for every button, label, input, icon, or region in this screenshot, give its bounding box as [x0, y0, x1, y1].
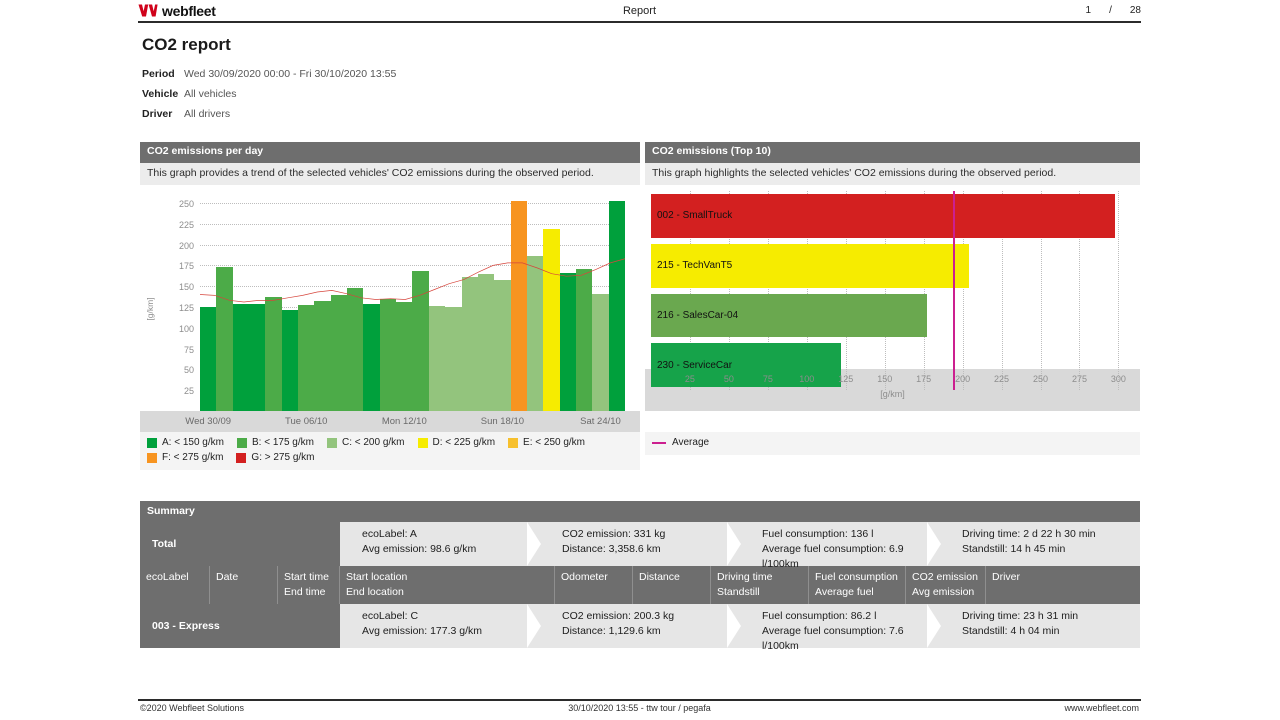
column-header: Distance [633, 566, 711, 604]
summary-row-vehicle: 003 - ExpressecoLabel: CAvg emission: 17… [140, 604, 1140, 648]
summary-cell-line2: Standstill: 14 h 45 min [962, 542, 1130, 557]
meta-key: Vehicle [142, 84, 184, 104]
report-page: webfleet Report 1 / 28 CO2 report Period… [0, 0, 1280, 720]
average-line-icon [652, 442, 666, 444]
x-axis-tick-label: 275 [1072, 374, 1087, 384]
summary-cell-line2: Average fuel consumption: 6.9 l/100km [762, 542, 930, 572]
chart-co2-top10: 002 - SmallTruck215 - TechVanT5216 - Sal… [645, 185, 1140, 432]
x-axis-tick-label: 75 [763, 374, 773, 384]
legend-label: D: < 225 g/km [433, 437, 496, 448]
x-axis-tick-label: 150 [877, 374, 892, 384]
summary-cell-line1: Fuel consumption: 86.2 l [762, 609, 930, 624]
page-total: 28 [1130, 5, 1141, 16]
x-axis-tick-label: 25 [685, 374, 695, 384]
x-axis-tick-label: 125 [838, 374, 853, 384]
summary-row-total: TotalecoLabel: AAvg emission: 98.6 g/kmC… [140, 522, 1140, 566]
legend-swatch-icon [237, 438, 247, 448]
x-axis-tick-label: 100 [799, 374, 814, 384]
summary-cell-line2: Distance: 3,358.6 km [562, 542, 730, 557]
x-axis-tick-label: Mon 12/10 [382, 416, 427, 427]
bar-label: 216 - SalesCar-04 [651, 310, 738, 321]
header-divider [138, 21, 1141, 23]
page-header: webfleet Report 1 / 28 [138, 0, 1141, 21]
y-axis-tick-label: 125 [179, 303, 194, 313]
meta-value: All drivers [184, 104, 230, 124]
column-header-line1: Driver [992, 570, 1134, 585]
column-header-line1: Driving time [717, 570, 802, 585]
summary-cell: Fuel consumption: 86.2 lAverage fuel con… [740, 604, 940, 648]
plot-area: 255075100125150175200225250 [200, 193, 625, 411]
legend-item-a: A: < 150 g/km [147, 437, 224, 448]
summary-cell: CO2 emission: 331 kgDistance: 3,358.6 km [540, 522, 740, 566]
x-axis-tick-label: Sat 24/10 [580, 416, 621, 427]
x-axis-tick-label: 300 [1111, 374, 1126, 384]
summary-cell: Driving time: 2 d 22 h 30 minStandstill:… [940, 522, 1140, 566]
legend-average: Average [645, 432, 1140, 455]
legend-ecolabels: A: < 150 g/kmB: < 175 g/kmC: < 200 g/kmD… [140, 432, 640, 470]
legend-label: F: < 275 g/km [162, 452, 223, 463]
summary-cell: ecoLabel: CAvg emission: 177.3 g/km [340, 604, 540, 648]
legend-label: B: < 175 g/km [252, 437, 314, 448]
summary-cell: ecoLabel: AAvg emission: 98.6 g/km [340, 522, 540, 566]
legend-label: G: > 275 g/km [251, 452, 314, 463]
column-header: Odometer [555, 566, 633, 604]
legend-label: A: < 150 g/km [162, 437, 224, 448]
panel-co2-top10: CO2 emissions (Top 10) This graph highli… [645, 142, 1140, 455]
summary-cell-line1: Fuel consumption: 136 l [762, 527, 930, 542]
legend-swatch-icon [147, 453, 157, 463]
summary-section: Summary TotalecoLabel: AAvg emission: 98… [140, 501, 1140, 648]
summary-row: TotalecoLabel: AAvg emission: 98.6 g/kmC… [140, 522, 1140, 566]
column-header: Start locationEnd location [340, 566, 555, 604]
y-axis-tick-label: 200 [179, 241, 194, 251]
meta-row-vehicle: Vehicle All vehicles [142, 84, 396, 104]
legend-row: A: < 150 g/kmB: < 175 g/kmC: < 200 g/kmD… [147, 437, 633, 448]
column-header-line2: Standstill [717, 585, 802, 600]
legend-row: F: < 275 g/kmG: > 275 g/km [147, 452, 633, 463]
x-axis-tick-label: 50 [724, 374, 734, 384]
summary-cell-line1: ecoLabel: C [362, 609, 530, 624]
report-meta: Period Wed 30/09/2020 00:00 - Fri 30/10/… [142, 64, 396, 124]
bar: 216 - SalesCar-04 [651, 294, 927, 338]
page-title: CO2 report [142, 35, 231, 55]
column-header-line1: Distance [639, 570, 704, 585]
legend-label: C: < 200 g/km [342, 437, 405, 448]
x-axis-tick-label: 175 [916, 374, 931, 384]
trend-polyline [200, 259, 625, 302]
summary-cell-line1: ecoLabel: A [362, 527, 530, 542]
summary-column-headers: ecoLabelDateStart timeEnd timeStart loca… [140, 566, 1140, 604]
column-header: ecoLabel [140, 566, 210, 604]
panel-description: This graph provides a trend of the selec… [140, 163, 640, 186]
legend-item-b: B: < 175 g/km [237, 437, 314, 448]
summary-cell-line2: Standstill: 4 h 04 min [962, 624, 1130, 639]
page-footer: ©2020 Webfleet Solutions 30/10/2020 13:5… [138, 703, 1141, 719]
y-axis-tick-label: 75 [184, 345, 194, 355]
y-axis-tick-label: 175 [179, 261, 194, 271]
panel-co2-per-day: CO2 emissions per day This graph provide… [140, 142, 640, 470]
summary-cell-line1: CO2 emission: 200.3 kg [562, 609, 730, 624]
summary-cell-line2: Avg emission: 177.3 g/km [362, 624, 530, 639]
average-marker-line [953, 191, 955, 390]
plot-area: 002 - SmallTruck215 - TechVanT5216 - Sal… [651, 191, 1134, 390]
column-header-line1: CO2 emission [912, 570, 979, 585]
page-current: 1 [1086, 5, 1092, 16]
x-axis-tick-label: Wed 30/09 [185, 416, 231, 427]
summary-cell-line2: Avg emission: 98.6 g/km [362, 542, 530, 557]
meta-value: Wed 30/09/2020 00:00 - Fri 30/10/2020 13… [184, 64, 396, 84]
column-header-line2: Avg emission [912, 585, 979, 600]
legend-swatch-icon [508, 438, 518, 448]
summary-cell-line1: Driving time: 23 h 31 min [962, 609, 1130, 624]
average-trend-line [200, 193, 625, 411]
x-axis-ticks: [g/km] 255075100125150175200225250275300 [651, 369, 1134, 411]
legend-swatch-icon [327, 438, 337, 448]
footer-divider [138, 699, 1141, 701]
summary-cell: Driving time: 23 h 31 minStandstill: 4 h… [940, 604, 1140, 648]
meta-key: Driver [142, 104, 184, 124]
legend-item-c: C: < 200 g/km [327, 437, 405, 448]
panel-heading: CO2 emissions per day [140, 142, 640, 163]
meta-key: Period [142, 64, 184, 84]
summary-cell-line2: Distance: 1,129.6 km [562, 624, 730, 639]
summary-cell: CO2 emission: 200.3 kgDistance: 1,129.6 … [540, 604, 740, 648]
y-axis-tick-label: 150 [179, 282, 194, 292]
bar-label: 215 - TechVanT5 [651, 260, 732, 271]
x-axis-tick-label: 200 [955, 374, 970, 384]
column-header-line2: End time [284, 585, 333, 600]
y-axis-tick-label: 100 [179, 324, 194, 334]
page-separator: / [1109, 5, 1112, 16]
column-header-line1: Fuel consumption [815, 570, 899, 585]
legend-label: E: < 250 g/km [523, 437, 585, 448]
legend-swatch-icon [418, 438, 428, 448]
x-axis-title: [g/km] [651, 389, 1134, 399]
bar-label: 002 - SmallTruck [651, 210, 732, 221]
footer-website[interactable]: www.webfleet.com [1064, 703, 1139, 713]
legend-row: Average [652, 437, 1133, 448]
legend-label: Average [672, 437, 709, 448]
y-axis-tick-label: 225 [179, 220, 194, 230]
chart-co2-per-day: [g/km] 255075100125150175200225250 Wed 3… [140, 185, 640, 432]
x-axis-labels: Wed 30/09Tue 06/10Mon 12/10Sun 18/10Sat … [200, 411, 625, 432]
summary-cell-line1: CO2 emission: 331 kg [562, 527, 730, 542]
column-header: Driver [986, 566, 1140, 604]
column-header-line1: Odometer [561, 570, 626, 585]
bar-row: 215 - TechVanT5 [651, 244, 1134, 288]
bar-row: 216 - SalesCar-04 [651, 294, 1134, 338]
column-header-line2: End location [346, 585, 548, 600]
bar: 002 - SmallTruck [651, 194, 1115, 238]
legend-item-d: D: < 225 g/km [418, 437, 496, 448]
column-header-line1: Date [216, 570, 271, 585]
column-header-line1: Start time [284, 570, 333, 585]
y-axis-tick-label: 250 [179, 199, 194, 209]
column-header-line2: Average fuel [815, 585, 899, 600]
summary-heading: Summary [140, 501, 1140, 522]
column-header-line1: Start location [346, 570, 548, 585]
column-header: Date [210, 566, 278, 604]
summary-cell: Fuel consumption: 136 lAverage fuel cons… [740, 522, 940, 566]
legend-item-f: F: < 275 g/km [147, 452, 223, 463]
legend-swatch-icon [236, 453, 246, 463]
x-axis-tick-label: Tue 06/10 [285, 416, 327, 427]
column-header-line1: ecoLabel [146, 570, 203, 585]
summary-row-name: 003 - Express [140, 604, 340, 648]
page-indicator: 1 / 28 [1086, 5, 1141, 16]
panel-heading: CO2 emissions (Top 10) [645, 142, 1140, 163]
column-header: Start timeEnd time [278, 566, 340, 604]
x-axis-tick-label: Sun 18/10 [481, 416, 524, 427]
bar: 215 - TechVanT5 [651, 244, 969, 288]
summary-cell-line1: Driving time: 2 d 22 h 30 min [962, 527, 1130, 542]
x-axis-tick-label: 225 [994, 374, 1009, 384]
legend-item-e: E: < 250 g/km [508, 437, 585, 448]
summary-cell-line2: Average fuel consumption: 7.6 l/100km [762, 624, 930, 654]
y-axis-tick-label: 50 [184, 365, 194, 375]
bar-row: 002 - SmallTruck [651, 194, 1134, 238]
y-axis-tick-label: 25 [184, 386, 194, 396]
x-axis-tick-label: 250 [1033, 374, 1048, 384]
legend-item-g: G: > 275 g/km [236, 452, 314, 463]
meta-row-period: Period Wed 30/09/2020 00:00 - Fri 30/10/… [142, 64, 396, 84]
header-title: Report [138, 5, 1141, 17]
footer-generated: 30/10/2020 13:55 - ttw tour / pegafa [138, 703, 1141, 713]
y-axis-title: [g/km] [145, 297, 155, 320]
bar-series: 002 - SmallTruck215 - TechVanT5216 - Sal… [651, 191, 1134, 390]
meta-row-driver: Driver All drivers [142, 104, 396, 124]
legend-item-average: Average [652, 437, 709, 448]
summary-row-name: Total [140, 522, 340, 566]
panel-description: This graph highlights the selected vehic… [645, 163, 1140, 186]
legend-swatch-icon [147, 438, 157, 448]
summary-row: 003 - ExpressecoLabel: CAvg emission: 17… [140, 604, 1140, 648]
meta-value: All vehicles [184, 84, 237, 104]
